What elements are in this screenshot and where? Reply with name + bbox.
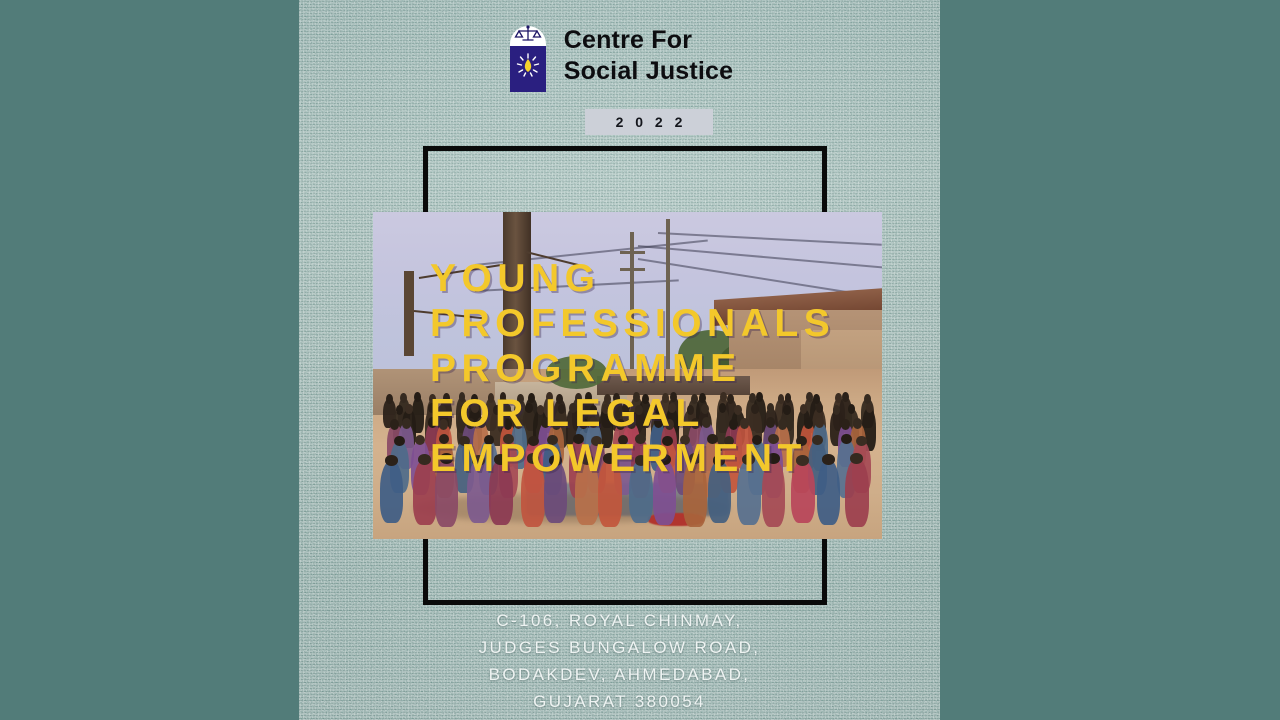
- photo-tree-twig: [404, 271, 414, 356]
- year-badge: 2 0 2 2: [585, 109, 713, 135]
- photo-person-head: [386, 394, 393, 404]
- address-block: C-106, ROYAL CHINMAY, JUDGES BUNGALOW RO…: [299, 607, 940, 715]
- page-title: YOUNG PROFESSIONALS PROGRAMME FOR LEGAL …: [430, 256, 910, 481]
- year-label: 2 0 2 2: [612, 114, 687, 130]
- photo-person-head: [390, 419, 399, 429]
- scales-of-justice-lamp-arch-logo-icon: [506, 16, 550, 96]
- photo-person-head: [405, 404, 413, 414]
- photo-person-head: [402, 418, 411, 428]
- poster: Centre For Social Justice 2 0 2 2: [299, 0, 940, 720]
- photo-person: [380, 461, 403, 523]
- photo-pole-crossarm: [620, 251, 645, 254]
- screenshot-canvas: Centre For Social Justice 2 0 2 2: [0, 0, 1280, 720]
- organization-name: Centre For Social Justice: [564, 25, 734, 88]
- photo-person-head: [385, 455, 398, 465]
- photo-person-head: [394, 436, 404, 446]
- right-backdrop-bar: [940, 0, 1280, 720]
- left-backdrop-bar: [0, 0, 299, 720]
- organization-header: Centre For Social Justice: [299, 16, 940, 96]
